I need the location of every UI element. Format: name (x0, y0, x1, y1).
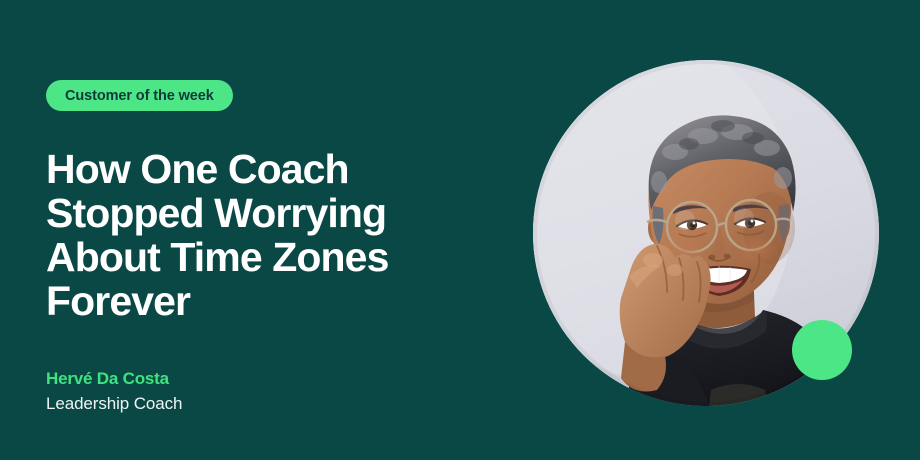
accent-dot (792, 320, 852, 380)
page-title: How One Coach Stopped Worrying About Tim… (46, 147, 526, 323)
headline-line: Stopped Worrying (46, 191, 526, 235)
status-badge: Customer of the week (46, 80, 233, 111)
attribution: Hervé Da Costa Leadership Coach (46, 368, 182, 416)
headline-line: Forever (46, 279, 526, 323)
customer-name: Hervé Da Costa (46, 368, 182, 390)
customer-role: Leadership Coach (46, 392, 182, 416)
headline-line: About Time Zones (46, 235, 526, 279)
banner-text-column: Customer of the week How One Coach Stopp… (46, 0, 546, 460)
customer-story-banner: Customer of the week How One Coach Stopp… (0, 0, 920, 460)
headline-line: How One Coach (46, 147, 526, 191)
